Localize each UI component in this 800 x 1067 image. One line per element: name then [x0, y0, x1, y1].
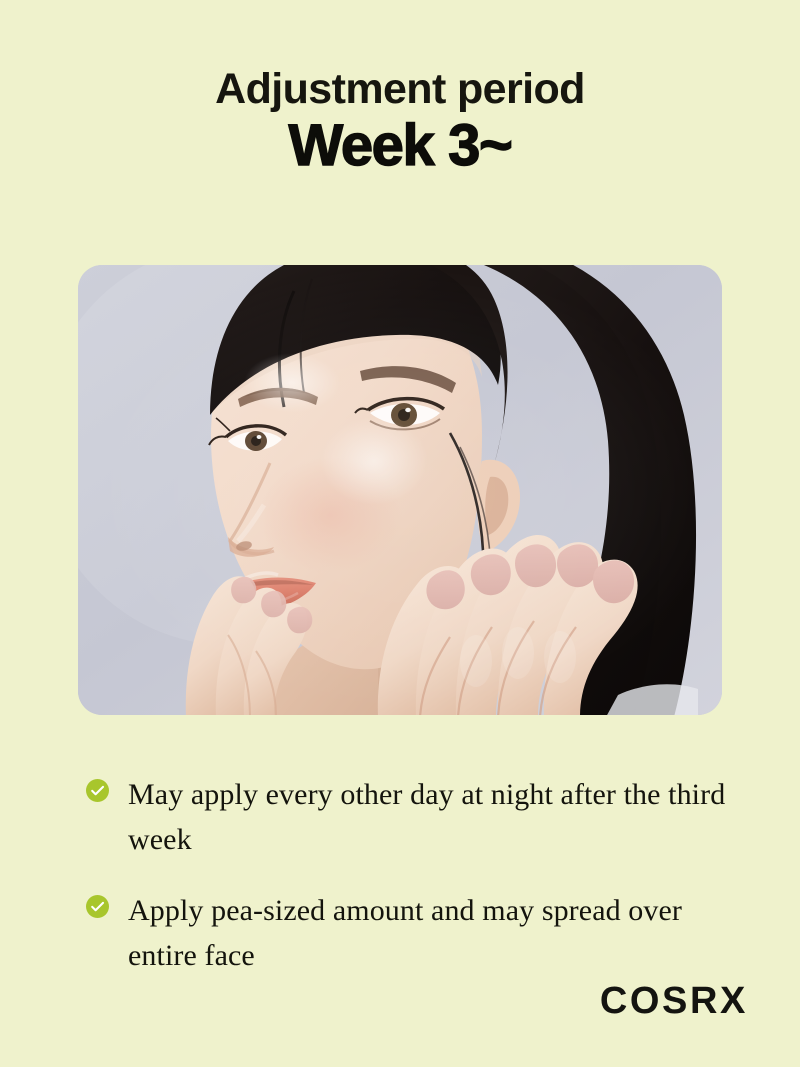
model-photo [78, 265, 722, 715]
instruction-list: May apply every other day at night after… [86, 772, 736, 978]
page-title: Week 3~ [0, 116, 800, 177]
list-item-label: Apply pea-sized amount and may spread ov… [128, 888, 728, 978]
list-item-label: May apply every other day at night after… [128, 772, 728, 862]
list-item: Apply pea-sized amount and may spread ov… [86, 888, 736, 978]
promo-card: { "theme": { "background_color": "#EFF2C… [0, 0, 800, 1067]
list-item: May apply every other day at night after… [86, 772, 736, 862]
check-circle-icon [86, 779, 109, 802]
heading-block: Adjustment period Week 3~ [0, 0, 800, 177]
brand-logo: COSRX [600, 980, 748, 1023]
check-circle-icon [86, 895, 109, 918]
model-photo-illustration [78, 265, 722, 715]
heading-eyebrow: Adjustment period [0, 68, 800, 112]
